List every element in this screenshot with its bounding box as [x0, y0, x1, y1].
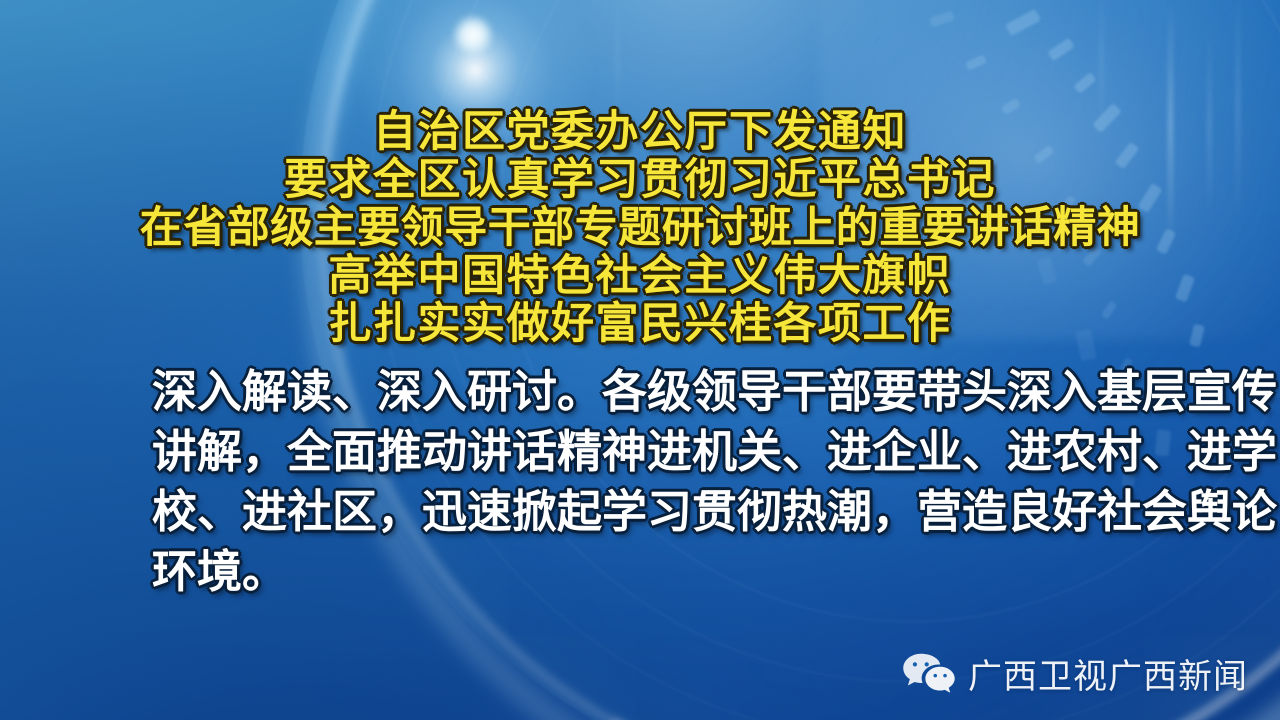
headline-block: 自治区党委办公厅下发通知 要求全区认真学习贯彻习近平总书记 在省部级主要领导干部…: [0, 108, 1280, 348]
body-line-2: 讲解，全面推动讲话精神进机关、进企业、进农村、进学: [152, 422, 1152, 482]
light-flare-core: [452, 14, 494, 56]
headline-line-4: 高举中国特色社会主义伟大旗帜: [0, 252, 1280, 300]
headline-line-2: 要求全区认真学习贯彻习近平总书记: [0, 156, 1280, 204]
headline-line-1: 自治区党委办公厅下发通知: [0, 108, 1280, 156]
body-line-4: 环境。: [152, 542, 1152, 602]
body-line-3: 校、进社区，迅速掀起学习贯彻热潮，营造良好社会舆论: [152, 482, 1152, 542]
body-line-1: 深入解读、深入研讨。各级领导干部要带头深入基层宣传: [152, 362, 1152, 422]
body-paragraph-block: 深入解读、深入研讨。各级领导干部要带头深入基层宣传 讲解，全面推动讲话精神进机关…: [152, 362, 1152, 602]
channel-watermark: 广西卫视广西新闻: [902, 649, 1248, 698]
wechat-icon: [902, 652, 956, 696]
headline-line-5: 扎扎实实做好富民兴桂各项工作: [0, 300, 1280, 348]
news-lower-third-screen: 自治区党委办公厅下发通知 要求全区认真学习贯彻习近平总书记 在省部级主要领导干部…: [0, 0, 1280, 720]
watermark-label: 广西卫视广西新闻: [968, 649, 1248, 698]
headline-line-3: 在省部级主要领导干部专题研讨班上的重要讲话精神: [0, 204, 1280, 252]
